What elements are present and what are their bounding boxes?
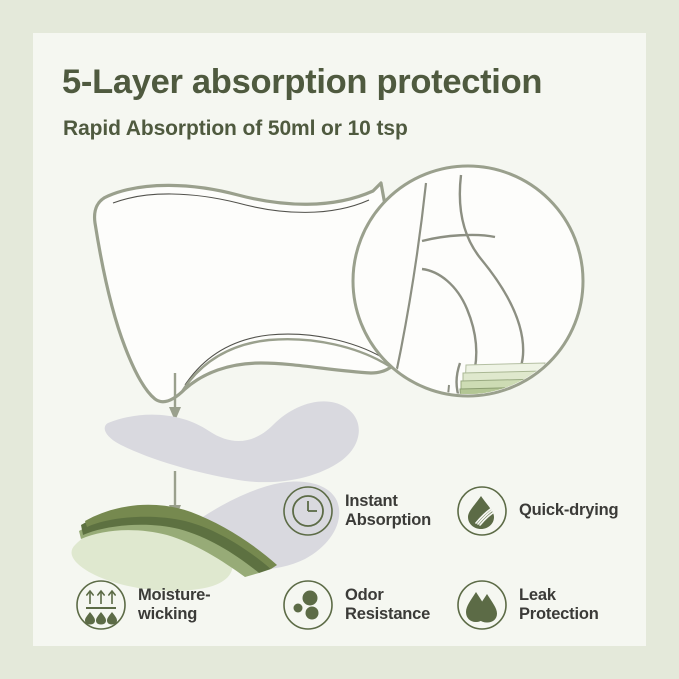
feature-odor-resistance[interactable]: Odor Resistance	[282, 579, 430, 631]
pad-stack-illustration	[72, 373, 359, 591]
gusset-layers	[460, 363, 545, 415]
feature-quick-drying[interactable]: Quick-drying	[456, 485, 618, 537]
down-arrow	[169, 471, 181, 519]
feature-label: Instant Absorption	[345, 492, 431, 530]
feature-label: Quick-drying	[519, 501, 618, 520]
odor-dots-icon	[282, 579, 334, 631]
down-arrow	[169, 373, 181, 421]
drying-droplet-icon	[456, 485, 508, 537]
feature-instant-absorption[interactable]: Instant Absorption	[282, 485, 431, 537]
page-title: 5-Layer absorption protection	[62, 63, 542, 102]
double-droplet-icon	[456, 579, 508, 631]
feature-label: Moisture- wicking	[138, 586, 210, 624]
page-subtitle: Rapid Absorption of 50ml or 10 tsp	[63, 117, 408, 141]
feature-moisture-wicking[interactable]: Moisture- wicking	[75, 579, 210, 631]
wicking-arrows-icon	[75, 579, 127, 631]
feature-label: Leak Protection	[519, 586, 599, 624]
feature-label: Odor Resistance	[345, 586, 430, 624]
product-infographic: 5-Layer absorption protection Rapid Abso…	[0, 0, 679, 679]
underwear-illustration	[95, 183, 404, 402]
clock-icon	[282, 485, 334, 537]
infographic-card: 5-Layer absorption protection Rapid Abso…	[33, 33, 646, 646]
closeup-circle-illustration	[353, 166, 583, 503]
feature-leak-protection[interactable]: Leak Protection	[456, 579, 599, 631]
